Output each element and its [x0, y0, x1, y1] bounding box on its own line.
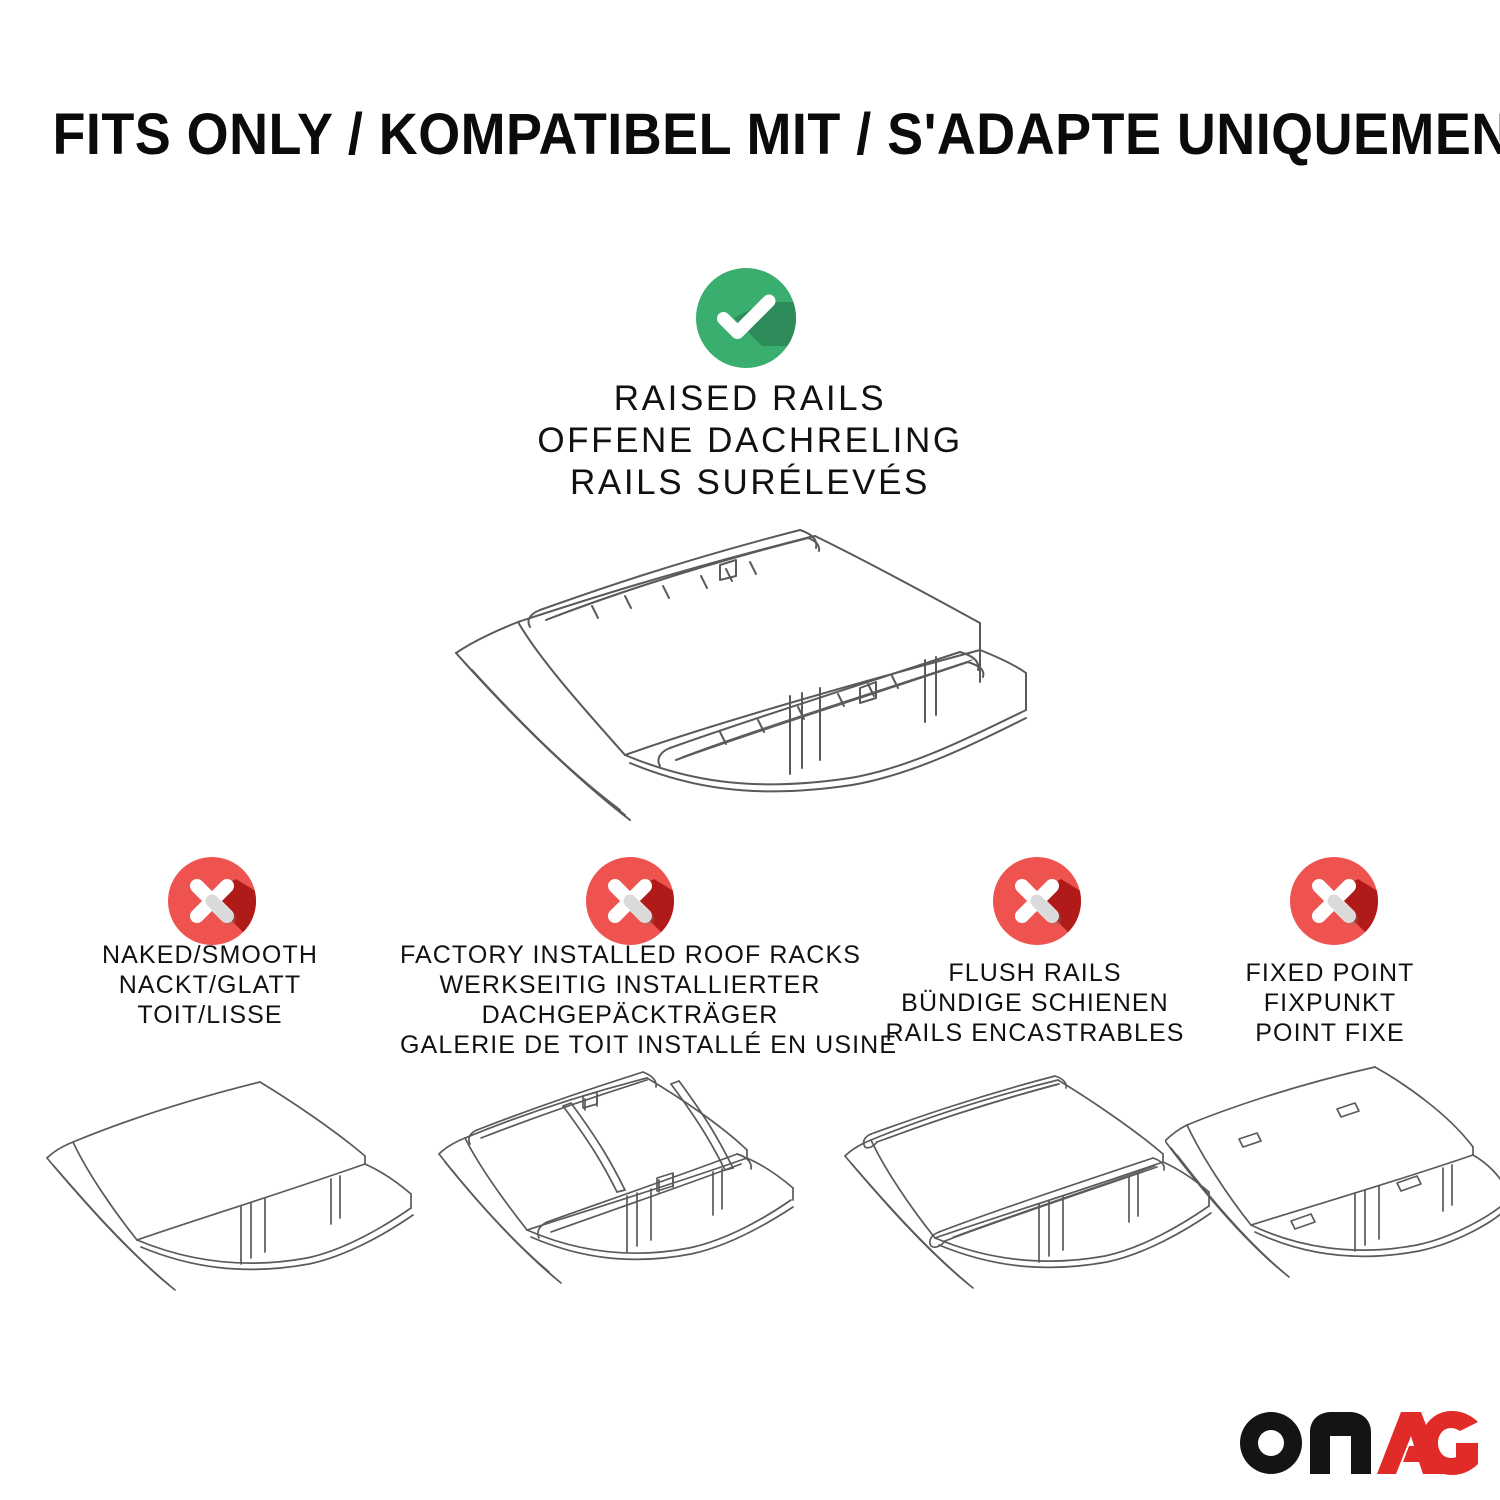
incompatible-2-line-3: DACHGEPÄCKTRÄGER: [400, 1000, 860, 1030]
incompatible-4-line-3: POINT FIXE: [1160, 1018, 1500, 1048]
logo-letter-c: [1421, 1411, 1478, 1475]
incompatible-1-line-2: NACKT/GLATT: [40, 970, 380, 1000]
incompatible-4-line-1: FIXED POINT: [1160, 958, 1500, 988]
incompatible-caption-1: NAKED/SMOOTH NACKT/GLATT TOIT/LISSE: [40, 940, 380, 1030]
car-roof-naked-smooth-illustration: [45, 1060, 415, 1310]
logo-letter-m: [1310, 1412, 1371, 1474]
compatible-line-1: RAISED RAILS: [250, 378, 1250, 420]
compatible-line-3: RAILS SURÉLEVÉS: [250, 462, 1250, 504]
incompatible-caption-2: FACTORY INSTALLED ROOF RACKS WERKSEITIG …: [400, 940, 860, 1060]
fitment-infographic: FITS ONLY / KOMPATIBEL MIT / S'ADAPTE UN…: [0, 0, 1500, 1500]
car-roof-factory-rack-illustration: [415, 1052, 815, 1310]
incompatible-1-line-1: NAKED/SMOOTH: [40, 940, 380, 970]
incompatible-caption-4: FIXED POINT FIXPUNKT POINT FIXE: [1160, 958, 1500, 1048]
incompatible-2-line-2: WERKSEITIG INSTALLIERTER: [400, 970, 860, 1000]
compatible-line-2: OFFENE DACHRELING: [250, 420, 1250, 462]
x-circle-icon: [991, 855, 1083, 947]
omac-logo: [1238, 1410, 1478, 1476]
check-circle-icon: [694, 266, 798, 370]
x-circle-icon: [1288, 855, 1380, 947]
incompatible-2-line-1: FACTORY INSTALLED ROOF RACKS: [400, 940, 860, 970]
compatible-caption: RAISED RAILS OFFENE DACHRELING RAILS SUR…: [250, 378, 1250, 504]
incompatible-1-line-3: TOIT/LISSE: [40, 1000, 380, 1030]
incompatible-4-line-2: FIXPUNKT: [1160, 988, 1500, 1018]
car-roof-fixed-point-illustration: [1165, 1055, 1500, 1310]
logo-letter-o: [1240, 1412, 1302, 1474]
car-roof-flush-rails-illustration: [843, 1060, 1213, 1310]
car-roof-raised-rails-illustration: [420, 510, 1080, 840]
x-circle-icon: [584, 855, 676, 947]
x-circle-icon: [166, 855, 258, 947]
page-title: FITS ONLY / KOMPATIBEL MIT / S'ADAPTE UN…: [53, 103, 1448, 167]
